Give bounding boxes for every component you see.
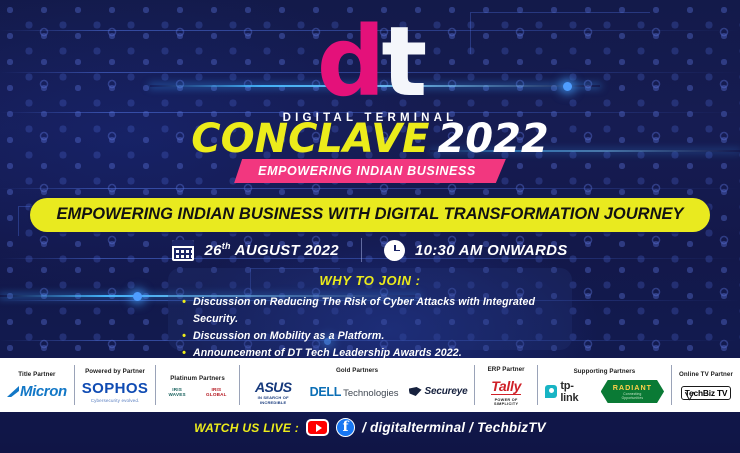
bullet-icon: • (182, 328, 186, 345)
event-title-word: CONCLAVE (191, 116, 429, 162)
calendar-icon (172, 240, 194, 261)
background-glow-node (133, 292, 142, 301)
tplink-mark-icon (545, 385, 557, 398)
sponsor-logo-secureye[interactable]: Secureye (409, 386, 468, 397)
sponsor-logos: Tally POWER OF SIMPLICITY (482, 378, 529, 406)
sponsor-group-label: Powered by Partner (85, 368, 145, 375)
sponsor-logo-radiant[interactable]: RADIANT Connecting Opportunities (601, 380, 664, 403)
event-time-text: 10:30 AM ONWARDS (415, 242, 568, 259)
sponsor-logo-tagline: Technologies (343, 388, 398, 399)
sponsor-logo-tagline: IN SEARCH OF INCREDIBLE (247, 395, 300, 405)
sponsor-group-label: Gold Partners (336, 367, 378, 374)
sponsor-logo-iris-global[interactable]: IRIS GLOBAL (201, 387, 232, 397)
sponsor-group-label: Supporting Partners (574, 368, 636, 375)
sponsor-logo-tagline: Cybersecurity evolved. (82, 398, 149, 403)
sponsor-logo-micron[interactable]: Micron (7, 383, 67, 400)
youtube-play-triangle (316, 424, 322, 432)
watch-live-bar: WATCH US LIVE : f / digitalterminal / Te… (0, 418, 740, 437)
facebook-icon[interactable]: f (336, 418, 355, 437)
sponsor-group-label: Online TV Partner (679, 371, 733, 378)
sponsor-group-erp-partner: ERP Partner Tally POWER OF SIMPLICITY (475, 358, 536, 412)
headline-text: EMPOWERING INDIAN BUSINESS WITH DIGITAL … (30, 198, 709, 232)
sponsor-logo-label: IRIS WAVES (163, 387, 191, 397)
event-title-year: 2022 (437, 116, 548, 162)
sponsor-logo-sophos[interactable]: SOPHOS Cybersecurity evolved. (82, 380, 149, 403)
background-line (0, 188, 740, 189)
sponsor-logos: Micron (7, 383, 67, 400)
micron-swoosh-icon (7, 386, 19, 397)
sponsor-logos: TechBiz TV (681, 383, 732, 401)
sponsor-logo-label: SOPHOS (82, 380, 149, 397)
sponsor-logo-asus[interactable]: ASUS IN SEARCH OF INCREDIBLE (247, 379, 300, 405)
sponsor-logo-techbiztv[interactable]: TechBiz TV (681, 383, 732, 401)
event-banner: dt DIGITAL TERMINAL CONCLAVE2022 EMPOWER… (0, 0, 740, 453)
sponsor-logos: ASUS IN SEARCH OF INCREDIBLE DELL Techno… (247, 379, 468, 405)
dt-logo: dt DIGITAL TERMINAL (0, 14, 740, 124)
sponsor-group-label: Title Partner (18, 371, 55, 378)
watch-live-handles: / digitalterminal / TechbizTV (362, 420, 546, 435)
sponsor-logo-label: Secureye (425, 386, 468, 397)
sponsor-logo-label: tp-link (560, 380, 590, 404)
dt-logo-mark: dt (317, 14, 424, 110)
dt-logo-letter-d: d (317, 6, 382, 118)
event-date-rest: AUGUST 2022 (231, 242, 339, 259)
dt-logo-letter-t: t (381, 6, 423, 118)
event-time: 10:30 AM ONWARDS (362, 240, 590, 261)
sponsor-group-online-tv-partner: Online TV Partner TechBiz TV (672, 358, 740, 412)
sponsor-group-label: ERP Partner (488, 366, 525, 373)
sponsor-logo-tally[interactable]: Tally POWER OF SIMPLICITY (482, 378, 529, 406)
sponsor-group-gold-partners: Gold Partners ASUS IN SEARCH OF INCREDIB… (240, 358, 475, 412)
sponsor-logo-tagline: POWER OF SIMPLICITY (482, 398, 529, 406)
sponsor-group-platinum-partners: Platinum Partners IRIS WAVES IRIS GLOBAL (156, 358, 238, 412)
sponsor-logos: SOPHOS Cybersecurity evolved. (82, 380, 149, 403)
sponsor-logos: tp-link RADIANT Connecting Opportunities (545, 380, 664, 404)
event-tagline-text: EMPOWERING INDIAN BUSINESS (234, 159, 506, 183)
sponsor-logo-label: RADIANT (613, 383, 652, 392)
sponsor-strip: Title Partner Micron Powered by Partner … (0, 358, 740, 412)
sponsor-logo-label: Micron (20, 383, 67, 400)
sponsor-logo-label: IRIS GLOBAL (201, 387, 232, 397)
event-date-day: 26 (204, 242, 221, 259)
sponsor-logo-label: Tally (491, 378, 521, 395)
watch-live-label: WATCH US LIVE : (194, 421, 299, 435)
list-item-label: Discussion on Mobility as a Platform. (193, 328, 384, 345)
sponsor-logo-iris-waves[interactable]: IRIS WAVES (163, 387, 191, 397)
sponsor-logo-dell[interactable]: DELL Technologies (310, 385, 399, 399)
sponsor-logos: IRIS WAVES IRIS GLOBAL (163, 387, 231, 397)
event-tagline-ribbon: EMPOWERING INDIAN BUSINESS (0, 159, 740, 183)
sponsor-logo-label: DELL (310, 385, 341, 399)
sponsor-group-supporting-partners: Supporting Partners tp-link RADIANT Conn… (538, 358, 671, 412)
event-meta: 26th AUGUST 2022 10:30 AM ONWARDS (0, 238, 740, 262)
sponsor-logo-tplink[interactable]: tp-link (545, 380, 591, 404)
bullet-icon: • (182, 294, 186, 311)
list-item: • Discussion on Reducing The Risk of Cyb… (182, 294, 582, 328)
youtube-icon[interactable] (306, 419, 329, 436)
sponsor-group-powered-by-partner: Powered by Partner SOPHOS Cybersecurity … (75, 358, 156, 412)
secureye-eye-icon (409, 387, 422, 396)
event-title: CONCLAVE2022 (0, 118, 740, 160)
sponsor-logo-label: ASUS (247, 379, 300, 395)
list-item-label: Discussion on Reducing The Risk of Cyber… (193, 294, 582, 328)
list-item: • Discussion on Mobility as a Platform. (182, 328, 582, 345)
sponsor-group-label: Platinum Partners (170, 375, 225, 382)
event-date: 26th AUGUST 2022 (150, 240, 361, 261)
clock-icon (384, 240, 405, 261)
why-to-join-list: • Discussion on Reducing The Risk of Cyb… (182, 294, 582, 362)
event-date-text: 26th AUGUST 2022 (204, 241, 339, 259)
headline-banner: EMPOWERING INDIAN BUSINESS WITH DIGITAL … (0, 198, 740, 232)
sponsor-group-title-partner: Title Partner Micron (0, 358, 74, 412)
why-to-join-title: WHY TO JOIN : (0, 273, 740, 288)
event-date-ordinal: th (222, 241, 231, 251)
sponsor-logo-tagline: Connecting Opportunities (613, 392, 652, 400)
